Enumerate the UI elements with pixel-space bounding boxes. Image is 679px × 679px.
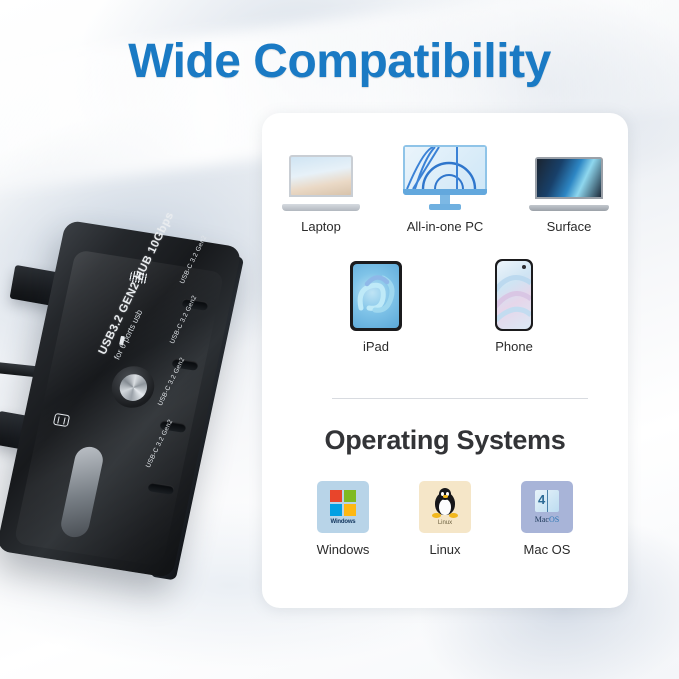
power-button-cap-icon: [117, 372, 149, 403]
os-list: Windows Windows Linux Linux: [262, 481, 628, 557]
os-item-linux: Linux Linux: [408, 481, 482, 557]
windows-tile-wordmark: Windows: [331, 519, 356, 525]
linux-tux-icon: Linux: [419, 481, 471, 533]
windows-logo-icon: Windows: [317, 481, 369, 533]
device-label: All-in-one PC: [407, 219, 484, 234]
laptop-icon: [282, 135, 360, 211]
os-section-title: Operating Systems: [262, 425, 628, 456]
os-item-macos: 4 MacOS Mac OS: [510, 481, 584, 557]
compatibility-card: Laptop: [262, 113, 628, 608]
phone-icon: [495, 255, 533, 331]
device-item-surface: Surface: [520, 135, 618, 234]
surface-laptop-icon: [529, 135, 609, 211]
device-item-all-in-one-pc: All-in-one PC: [396, 135, 494, 234]
macos-tile-wordmark: MacOS: [535, 515, 559, 524]
sd-card-slot-icon: [53, 413, 70, 427]
device-label: Laptop: [301, 219, 341, 234]
phone-wallpaper-curves: [497, 261, 531, 329]
linux-tile-wordmark: Linux: [438, 520, 452, 526]
device-row-bottom: iPad Phone: [262, 255, 628, 354]
page-title: Wide Compatibility: [0, 34, 679, 89]
all-in-one-pc-icon: [403, 135, 487, 211]
product-infographic: Wide Compatibility USB3.2 GEN2 HUB 10Gbp…: [0, 0, 679, 679]
ipad-icon: [350, 255, 402, 331]
section-divider: [332, 398, 588, 399]
macos-finder-icon: 4 MacOS: [521, 481, 573, 533]
device-label: Phone: [495, 339, 533, 354]
os-label: Mac OS: [524, 542, 571, 557]
device-label: iPad: [363, 339, 389, 354]
device-row-top: Laptop: [262, 135, 628, 234]
device-item-ipad: iPad: [327, 255, 425, 354]
ipad-wallpaper-ribbons: [353, 264, 399, 328]
device-item-laptop: Laptop: [272, 135, 370, 234]
os-label: Linux: [429, 542, 460, 557]
os-label: Windows: [317, 542, 370, 557]
os-item-windows: Windows Windows: [306, 481, 380, 557]
device-item-phone: Phone: [465, 255, 563, 354]
imac-wallpaper-arcs: [405, 147, 485, 189]
camera-punch-hole-icon: [522, 265, 526, 269]
device-label: Surface: [547, 219, 592, 234]
